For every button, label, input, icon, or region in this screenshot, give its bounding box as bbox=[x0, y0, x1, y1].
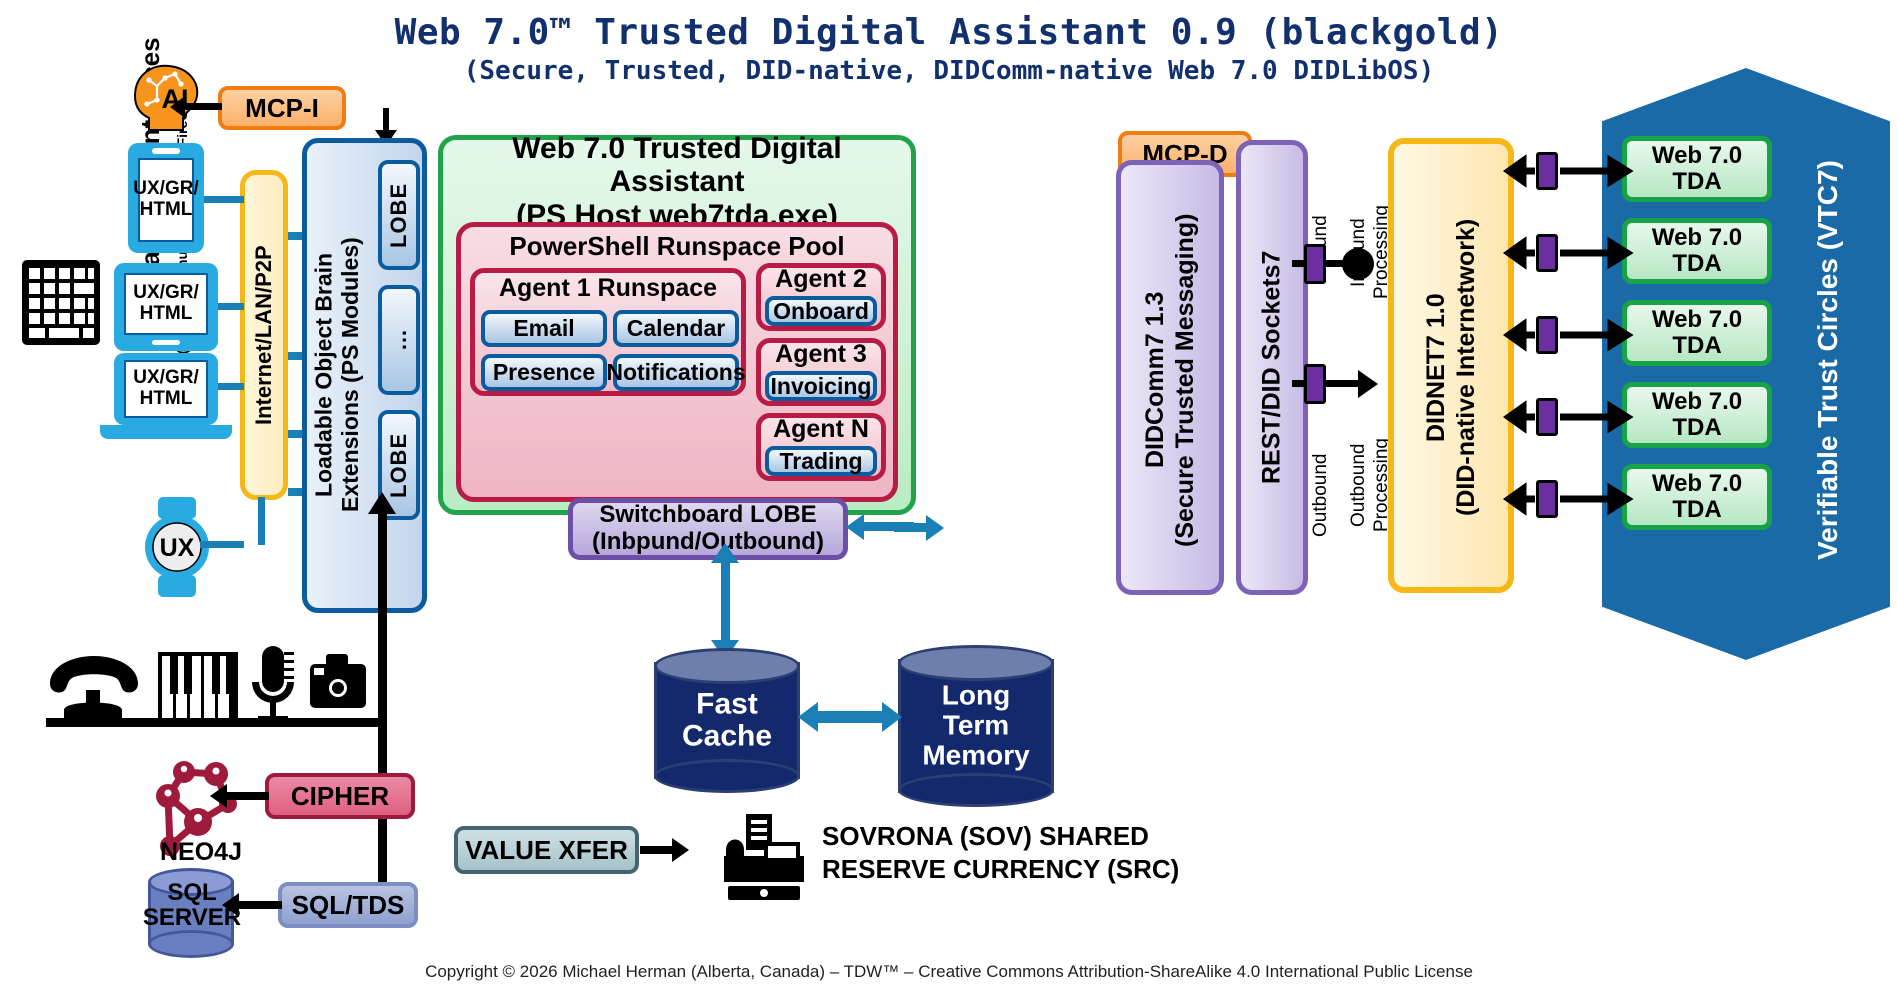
vtc7-label: Verifiable Trust Circles (VTC7) bbox=[1800, 110, 1856, 610]
agent-1-chip-notifications[interactable]: Notifications bbox=[613, 354, 739, 391]
agent-3-chip-invoicing[interactable]: Invoicing bbox=[765, 371, 877, 401]
value-xfer-badge[interactable]: VALUE XFER bbox=[454, 826, 639, 874]
inbound-connector bbox=[1292, 260, 1306, 267]
connector-tablet-internet bbox=[218, 303, 244, 310]
page-title: Web 7.0™ Trusted Digital Assistant 0.9 (… bbox=[0, 12, 1898, 53]
outbound-label: Outbound bbox=[1308, 440, 1334, 550]
left-vertical-bus bbox=[378, 510, 387, 910]
arrow-cache-ltm bbox=[796, 700, 904, 734]
device-laptop-text: UX/GR/ HTML bbox=[133, 368, 198, 410]
switchboard-lobe[interactable]: Switchboard LOBE (Inbpund/Outbound) bbox=[568, 498, 848, 560]
page-subtitle: (Secure, Trusted, DID-native, DIDComm-na… bbox=[0, 56, 1898, 86]
ltm-bottom bbox=[898, 773, 1054, 807]
connector-laptop-internet bbox=[218, 383, 244, 390]
vtc-tda-node-5[interactable]: Web 7.0 TDA bbox=[1622, 464, 1772, 530]
fast-cache-cylinder[interactable]: Fast Cache bbox=[654, 648, 800, 793]
vtc-arrows bbox=[1505, 130, 1635, 550]
device-phone-speaker bbox=[152, 148, 180, 154]
sql-bottom bbox=[148, 930, 234, 958]
arrow-mcpi-to-ai bbox=[180, 103, 222, 110]
device-tablet-label: UX/GR/ HTML bbox=[124, 273, 208, 335]
fast-cache-bottom bbox=[654, 759, 800, 793]
didnet7-label: DIDNET7 1.0 (DID-native Internetwork) bbox=[1388, 150, 1514, 585]
lobe-column-label: Loadable Object Brain Extensions (PS Mod… bbox=[308, 150, 366, 600]
sovrona-label: SOVRONA (SOV) SHARED RESERVE CURRENCY (S… bbox=[822, 820, 1342, 885]
device-tablet-home bbox=[152, 340, 180, 345]
connector-phone-internet bbox=[204, 196, 244, 203]
vtc-tda-node-1-label: Web 7.0 TDA bbox=[1652, 143, 1742, 196]
device-laptop-label: UX/GR/ HTML bbox=[124, 360, 208, 418]
media-icons-row bbox=[46, 640, 366, 750]
vtc-tda-node-1[interactable]: Web 7.0 TDA bbox=[1622, 136, 1772, 202]
arrowhead-bus-up bbox=[368, 492, 396, 514]
lobe-chip-1-label: LOBE bbox=[382, 164, 416, 266]
copyright-footer: Copyright © 2026 Michael Herman (Alberta… bbox=[0, 962, 1898, 982]
device-watch-label: UX bbox=[136, 533, 218, 563]
ltm-label: Long Term Memory bbox=[898, 681, 1054, 772]
outbound-line bbox=[1324, 380, 1362, 387]
agent-2-heading: Agent 2 bbox=[756, 265, 886, 293]
switchboard-line1: Switchboard LOBE bbox=[592, 502, 824, 529]
arrowhead-cipher-neo4j bbox=[210, 784, 227, 808]
agent-1-chip-email[interactable]: Email bbox=[481, 310, 607, 347]
connector-watch-internet-v bbox=[258, 497, 265, 545]
tda-heading-line1: Web 7.0 Trusted Digital Assistant bbox=[448, 132, 906, 199]
connector-switchboard-cache bbox=[721, 560, 730, 650]
vtc-tda-node-3[interactable]: Web 7.0 TDA bbox=[1622, 300, 1772, 366]
arrowhead-switchboard-up bbox=[711, 543, 739, 563]
fast-cache-top bbox=[654, 648, 800, 684]
device-phone-label: UX/GR/ HTML bbox=[138, 158, 194, 242]
lobe-chip-1[interactable]: LOBE bbox=[378, 160, 420, 270]
device-phone-text: UX/GR/ HTML bbox=[133, 179, 198, 221]
vtc-tda-node-4[interactable]: Web 7.0 TDA bbox=[1622, 382, 1772, 448]
cipher-badge[interactable]: CIPHER bbox=[265, 773, 415, 819]
arrowhead-valxfer-sovrona bbox=[672, 838, 689, 862]
vtc-tda-node-5-label: Web 7.0 TDA bbox=[1652, 471, 1742, 524]
switchboard-line2: (Inbpund/Outbound) bbox=[592, 529, 824, 556]
neo4j-label: NEO4J bbox=[160, 838, 280, 867]
cash-register-icon bbox=[718, 812, 810, 900]
agent-3-heading: Agent 3 bbox=[756, 340, 886, 368]
rest-did-sockets-label: REST/DID Sockets7 bbox=[1236, 140, 1308, 595]
outbound-node bbox=[1304, 364, 1326, 404]
agent-2-chip-onboard[interactable]: Onboard bbox=[765, 296, 877, 326]
ltm-top bbox=[898, 645, 1054, 681]
mcp-i-badge[interactable]: MCP-I bbox=[218, 86, 346, 130]
inbound-terminal-dot bbox=[1342, 248, 1374, 280]
arrowhead-outbound bbox=[1358, 370, 1378, 398]
vtc-tda-node-3-label: Web 7.0 TDA bbox=[1652, 307, 1742, 360]
agent-n-heading: Agent N bbox=[756, 415, 886, 443]
fast-cache-label: Fast Cache bbox=[654, 688, 800, 753]
vtc-tda-node-4-label: Web 7.0 TDA bbox=[1652, 389, 1742, 442]
lobe-chip-2-label: … bbox=[382, 289, 416, 391]
device-tablet-text: UX/GR/ HTML bbox=[133, 283, 198, 325]
lobe-chip-2[interactable]: … bbox=[378, 285, 420, 395]
agent-1-chip-calendar[interactable]: Calendar bbox=[613, 310, 739, 347]
keyboard-icon bbox=[22, 260, 100, 345]
internet-lan-p2p-label: Internet/LAN/P2P bbox=[240, 170, 288, 500]
powershell-runspace-pool-title: PowerShell Runspace Pool bbox=[456, 228, 898, 264]
sql-tds-badge[interactable]: SQL/TDS bbox=[278, 882, 418, 928]
vtc-tda-node-2-label: Web 7.0 TDA bbox=[1652, 225, 1742, 278]
media-bus-line bbox=[46, 718, 386, 727]
inbound-node bbox=[1304, 244, 1326, 284]
tda-heading: Web 7.0 Trusted Digital Assistant (PS Ho… bbox=[448, 145, 906, 219]
arrowhead-tda-didcomm bbox=[926, 515, 944, 541]
outbound-connector bbox=[1292, 380, 1306, 387]
agent-1-heading: Agent 1 Runspace bbox=[470, 272, 746, 304]
vtc-tda-node-2[interactable]: Web 7.0 TDA bbox=[1622, 218, 1772, 284]
long-term-memory-cylinder[interactable]: Long Term Memory bbox=[898, 645, 1054, 807]
device-laptop-base bbox=[100, 425, 232, 439]
arrowhead-agentn-switchboard bbox=[846, 514, 864, 540]
agent-1-chip-presence[interactable]: Presence bbox=[481, 354, 607, 391]
sql-server-label: SQL SERVER bbox=[128, 880, 256, 930]
agent-n-chip-trading[interactable]: Trading bbox=[765, 446, 877, 476]
connector-watch-internet bbox=[200, 541, 244, 548]
connector-tda-didcomm bbox=[894, 523, 928, 532]
didcomm7-label: DIDComm7 1.3 (Secure Trusted Messaging) bbox=[1116, 170, 1224, 590]
arrow-cipher-neo4j bbox=[225, 792, 269, 800]
arrowhead-mcpi-to-ai bbox=[170, 96, 185, 118]
